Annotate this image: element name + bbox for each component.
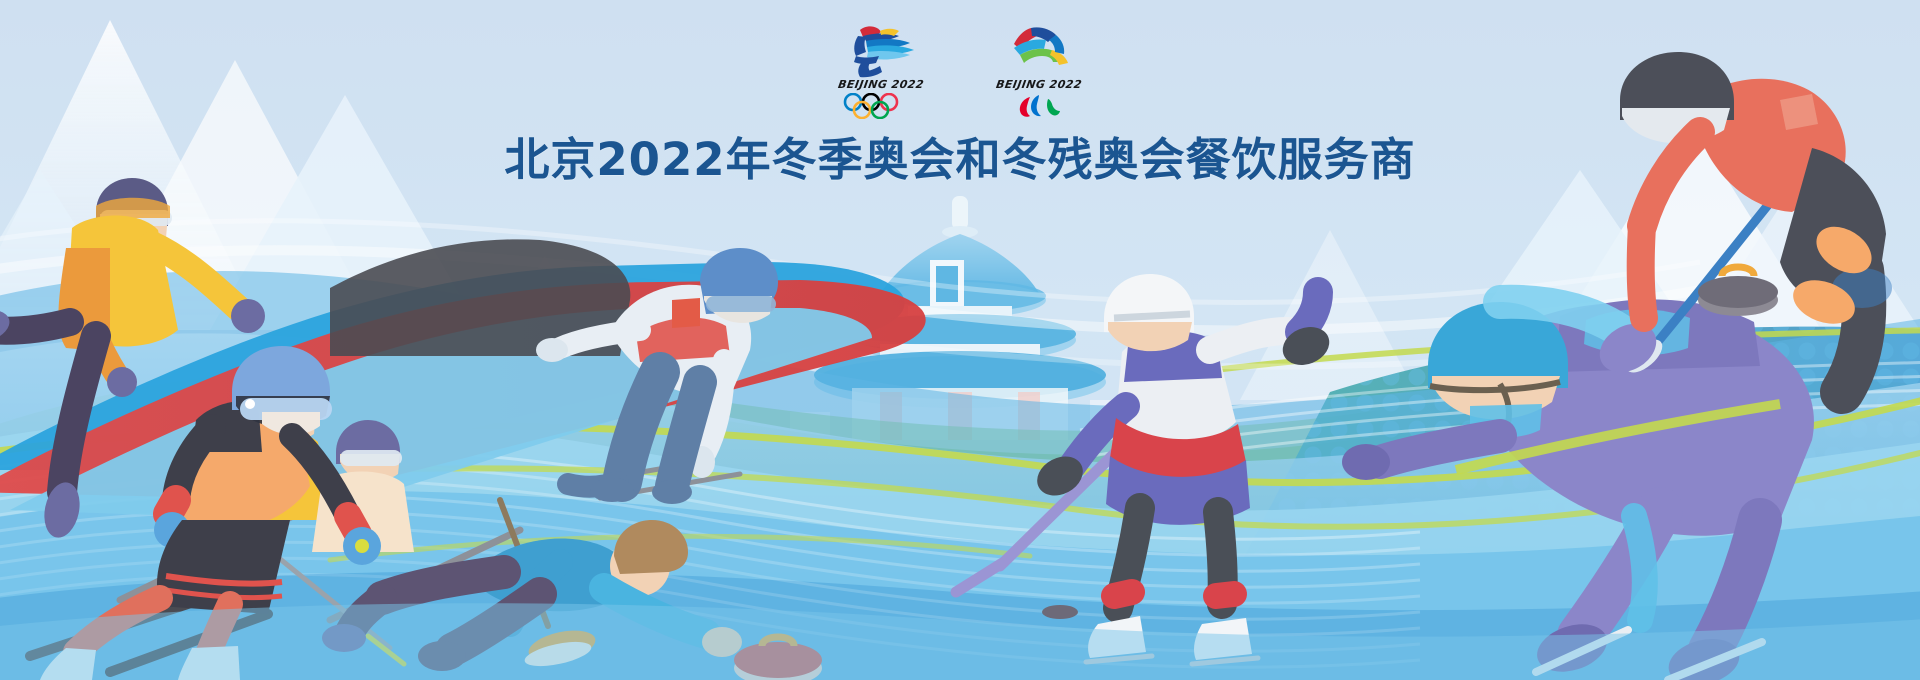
- olympic-wordmark: BEIJING 2022: [824, 79, 938, 90]
- beijing-2022-paralympic-emblem[interactable]: BEIJING 2022: [983, 22, 1095, 121]
- olympic-ribbon-icon: [836, 22, 926, 78]
- athlete-ice-hockey: [956, 274, 1335, 664]
- beijing-2022-olympic-emblem[interactable]: BEIJING 2022: [825, 22, 937, 121]
- paralympic-ribbon-icon: [994, 22, 1084, 78]
- banner-header: BEIJING 2022: [0, 0, 1920, 182]
- banner-title: 北京2022年冬季奥会和冬残奥会餐饮服务商: [0, 137, 1920, 182]
- athlete-bobsleigh-team: [0, 178, 926, 620]
- olympic-banner: BEIJING 2022: [0, 0, 1920, 680]
- athlete-speed-skater-purple: [1342, 299, 1814, 680]
- olympic-rings-icon: [825, 93, 937, 121]
- paralympic-wordmark: BEIJING 2022: [982, 79, 1096, 90]
- emblems-row: BEIJING 2022: [0, 0, 1920, 121]
- paralympic-agitos-icon: [983, 93, 1095, 121]
